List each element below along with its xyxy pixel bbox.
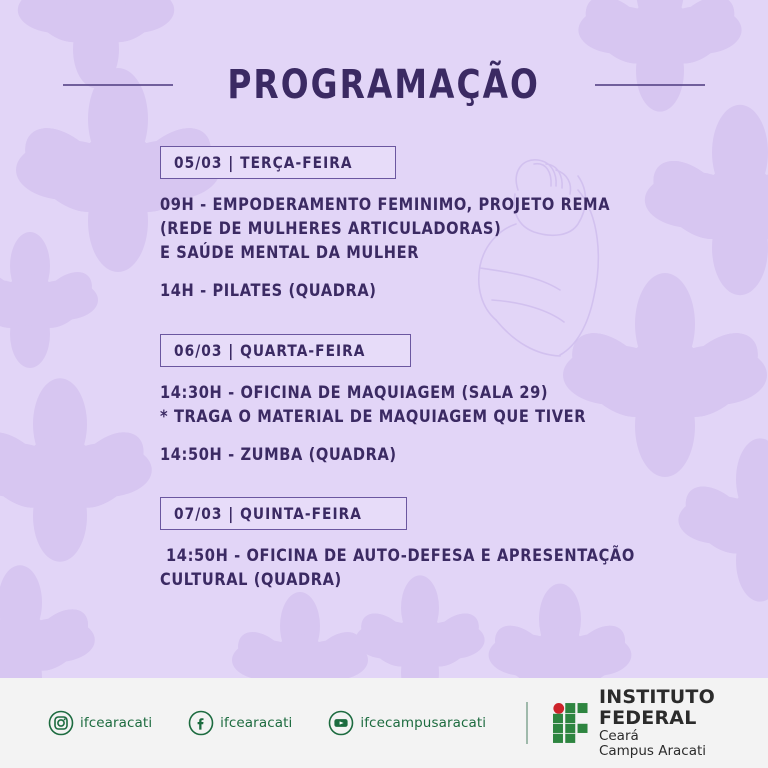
event-item: 09H - EMPODERAMENTO FEMINIMO, PROJETO RE… — [160, 193, 740, 265]
day-block: 06/03 | QUARTA-FEIRA 14:30H - OFICINA DE… — [160, 334, 740, 467]
poster-canvas: PROGRAMAÇÃO 05/03 | TERÇA-FEIRA 09H - EM… — [0, 0, 768, 768]
social-handle: ifcearacati — [80, 715, 152, 731]
event-line: 14H - PILATES (QUADRA) — [160, 279, 659, 303]
event-line: 14:50H - ZUMBA (QUADRA) — [160, 443, 659, 467]
social-handle: ifcearacati — [220, 715, 292, 731]
event-line: (REDE DE MULHERES ARTICULADORAS) — [160, 217, 659, 241]
instagram-icon — [48, 710, 74, 736]
institutional-logo: INSTITUTO FEDERAL Ceará Campus Aracati — [553, 687, 768, 760]
event-line: CULTURAL (QUADRA) — [160, 568, 659, 592]
social-link-instagram[interactable]: ifcearacati — [48, 710, 152, 736]
event-item: 14H - PILATES (QUADRA) — [160, 279, 740, 303]
logo-campus: Campus Aracati — [599, 744, 768, 759]
schedule-list: 05/03 | TERÇA-FEIRA 09H - EMPODERAMENTO … — [160, 146, 740, 622]
page-title-row: PROGRAMAÇÃO — [0, 62, 768, 108]
logo-title: INSTITUTO FEDERAL — [599, 687, 768, 730]
event-line: E SAÚDE MENTAL DA MULHER — [160, 241, 659, 265]
day-badge: 05/03 | TERÇA-FEIRA — [160, 146, 396, 179]
social-handle: ifcecampusaracati — [360, 715, 486, 731]
facebook-icon — [188, 710, 214, 736]
footer-divider — [526, 702, 528, 744]
day-badge: 07/03 | QUINTA-FEIRA — [160, 497, 407, 530]
youtube-icon — [328, 710, 354, 736]
event-item: 14:50H - ZUMBA (QUADRA) — [160, 443, 740, 467]
event-line: * TRAGA O MATERIAL DE MAQUIAGEM QUE TIVE… — [160, 405, 659, 429]
event-item: 14:30H - OFICINA DE MAQUIAGEM (SALA 29) … — [160, 381, 740, 429]
if-logo-grid-icon — [553, 697, 588, 749]
day-badge-label: 06/03 | QUARTA-FEIRA — [174, 341, 365, 360]
event-line: 14:30H - OFICINA DE MAQUIAGEM (SALA 29) — [160, 381, 659, 405]
social-link-facebook[interactable]: ifcearacati — [188, 710, 292, 736]
day-badge-label: 07/03 | QUINTA-FEIRA — [174, 504, 362, 523]
event-line: 09H - EMPODERAMENTO FEMINIMO, PROJETO RE… — [160, 193, 659, 217]
day-badge-label: 05/03 | TERÇA-FEIRA — [174, 153, 353, 172]
social-links: ifcearacati ifcearacati ifcecampusaracat… — [48, 710, 486, 736]
page-title: PROGRAMAÇÃO — [228, 62, 541, 108]
social-link-youtube[interactable]: ifcecampusaracati — [328, 710, 486, 736]
logo-state: Ceará — [599, 729, 768, 744]
logo-text-block: INSTITUTO FEDERAL Ceará Campus Aracati — [599, 687, 768, 760]
title-rule-right — [595, 84, 705, 86]
title-rule-left — [63, 84, 173, 86]
event-line: 14:50H - OFICINA DE AUTO-DEFESA E APRESE… — [160, 544, 659, 568]
day-block: 07/03 | QUINTA-FEIRA 14:50H - OFICINA DE… — [160, 497, 740, 592]
event-item: 14:50H - OFICINA DE AUTO-DEFESA E APRESE… — [160, 544, 740, 592]
day-badge: 06/03 | QUARTA-FEIRA — [160, 334, 411, 367]
day-block: 05/03 | TERÇA-FEIRA 09H - EMPODERAMENTO … — [160, 146, 740, 304]
footer-bar: ifcearacati ifcearacati ifcecampusaracat… — [0, 678, 768, 768]
